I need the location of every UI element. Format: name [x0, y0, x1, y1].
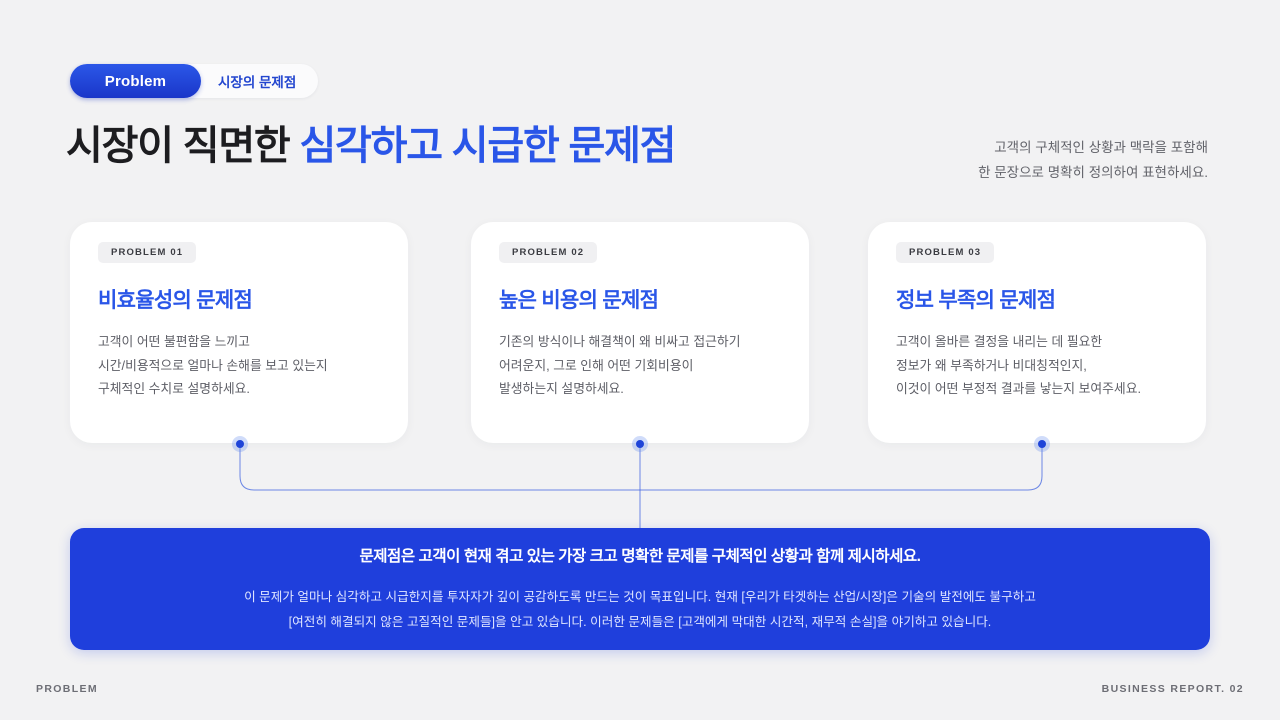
problem-card[interactable]: PROBLEM 03 정보 부족의 문제점 고객이 올바른 결정을 내리는 데 …	[868, 222, 1206, 443]
card-title: 비효율성의 문제점	[98, 284, 252, 314]
card-body: 고객이 올바른 결정을 내리는 데 필요한 정보가 왜 부족하거나 비대칭적인지…	[896, 330, 1190, 401]
summary-banner-line: [여전히 해결되지 않은 고질적인 문제들]을 안고 있습니다. 이러한 문제들…	[244, 610, 1036, 635]
card-body-line: 고객이 올바른 결정을 내리는 데 필요한	[896, 330, 1190, 354]
card-title: 정보 부족의 문제점	[896, 284, 1055, 314]
connector-node-icon	[632, 436, 648, 452]
summary-banner-line: 이 문제가 얼마나 심각하고 시급한지를 투자자가 깊이 공감하도록 만드는 것…	[244, 585, 1036, 610]
card-body-line: 이것이 어떤 부정적 결과를 낳는지 보여주세요.	[896, 377, 1190, 401]
footer-right-label: BUSINESS REPORT. 02	[1102, 683, 1244, 695]
card-badge: PROBLEM 03	[896, 242, 994, 263]
page-title-plain: 시장이 직면한	[66, 124, 299, 168]
kicker-subtitle: 시장의 문제점	[218, 71, 296, 91]
card-body-line: 고객이 어떤 불편함을 느끼고	[98, 330, 392, 354]
connector-node-icon	[232, 436, 248, 452]
connector-node-icon	[1034, 436, 1050, 452]
page-lede-line-1: 고객의 구체적인 상황과 맥락을 포함해	[878, 136, 1208, 161]
problem-card[interactable]: PROBLEM 02 높은 비용의 문제점 기존의 방식이나 해결책이 왜 비싸…	[471, 222, 809, 443]
problem-card-list: PROBLEM 01 비효율성의 문제점 고객이 어떤 불편함을 느끼고 시간/…	[70, 222, 1210, 443]
summary-banner-body: 이 문제가 얼마나 심각하고 시급한지를 투자자가 깊이 공감하도록 만드는 것…	[244, 585, 1036, 634]
page-title: 시장이 직면한 심각하고 시급한 문제점	[66, 122, 675, 170]
card-body: 고객이 어떤 불편함을 느끼고 시간/비용적으로 얼마나 손해를 보고 있는지 …	[98, 330, 392, 401]
kicker-badge[interactable]: Problem	[70, 64, 201, 98]
card-badge: PROBLEM 01	[98, 242, 196, 263]
card-title: 높은 비용의 문제점	[499, 284, 658, 314]
page-lede-line-2: 한 문장으로 명확히 정의하여 표현하세요.	[878, 161, 1208, 186]
card-body-line: 기존의 방식이나 해결책이 왜 비싸고 접근하기	[499, 330, 793, 354]
summary-banner: 문제점은 고객이 현재 겪고 있는 가장 크고 명확한 문제를 구체적인 상황과…	[70, 528, 1210, 650]
card-body-line: 정보가 왜 부족하거나 비대칭적인지,	[896, 354, 1190, 378]
footer-left-label: PROBLEM	[36, 683, 98, 695]
card-body-line: 시간/비용적으로 얼마나 손해를 보고 있는지	[98, 354, 392, 378]
card-badge: PROBLEM 02	[499, 242, 597, 263]
card-body-line: 어려운지, 그로 인해 어떤 기회비용이	[499, 354, 793, 378]
page-lede: 고객의 구체적인 상황과 맥락을 포함해 한 문장으로 명확히 정의하여 표현하…	[878, 136, 1208, 186]
section-kicker: Problem 시장의 문제점	[70, 64, 318, 98]
connector-group	[0, 430, 1280, 540]
card-body-line: 발생하는지 설명하세요.	[499, 377, 793, 401]
card-body: 기존의 방식이나 해결책이 왜 비싸고 접근하기 어려운지, 그로 인해 어떤 …	[499, 330, 793, 401]
card-body-line: 구체적인 수치로 설명하세요.	[98, 377, 392, 401]
slide-root: Problem 시장의 문제점 시장이 직면한 심각하고 시급한 문제점 고객의…	[0, 0, 1280, 720]
summary-banner-title: 문제점은 고객이 현재 겪고 있는 가장 크고 명확한 문제를 구체적인 상황과…	[359, 544, 920, 566]
page-title-highlight: 심각하고 시급한 문제점	[299, 124, 675, 168]
problem-card[interactable]: PROBLEM 01 비효율성의 문제점 고객이 어떤 불편함을 느끼고 시간/…	[70, 222, 408, 443]
